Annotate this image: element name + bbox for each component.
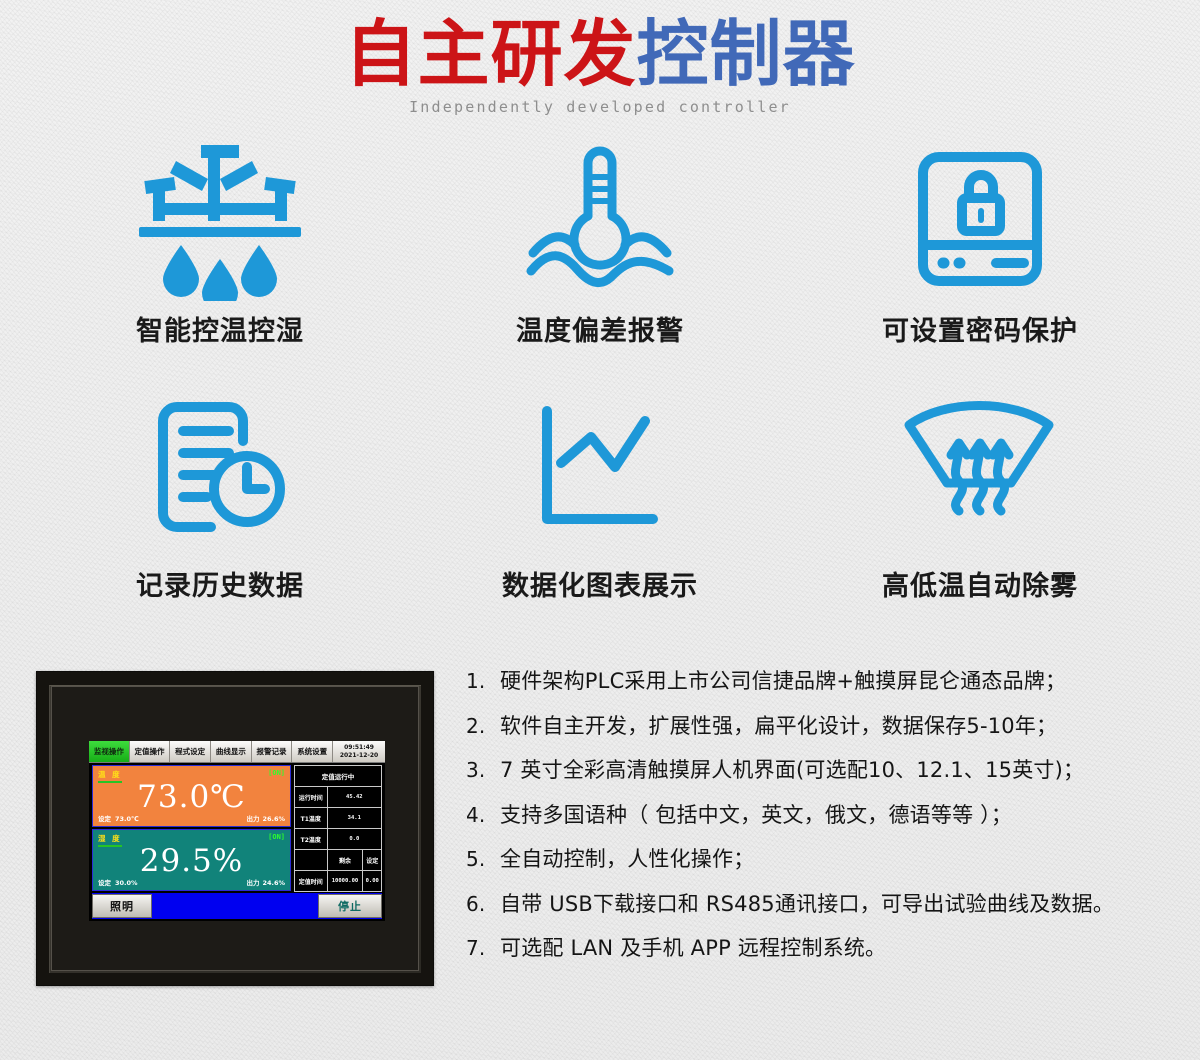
hmi-humidity-setpoint-label: 设定: [98, 879, 111, 887]
hmi-humidity-setpoint: 设定30.0%: [98, 877, 138, 887]
list-item-number: 5.: [466, 846, 500, 872]
hmi-status-col-remaining: 剩余: [327, 850, 363, 871]
hmi-tab-curve[interactable]: 曲线显示: [211, 741, 252, 762]
hmi-humidity-output-label: 出力: [246, 879, 259, 887]
table-row: T2温度 0.0: [295, 829, 382, 850]
hmi-clock-time: 09:51:49: [344, 744, 374, 752]
hmi-humidity-setpoint-value: 30.0%: [115, 879, 138, 887]
title-red-part: 自主研发: [344, 12, 636, 96]
list-item-number: 4.: [466, 802, 500, 828]
list-item-number: 6.: [466, 891, 500, 917]
hmi-temperature-output-label: 出力: [246, 815, 259, 823]
hmi-light-button[interactable]: 照明: [92, 894, 152, 918]
hmi-status-row-label: [295, 850, 328, 871]
list-item: 6. 自带 USB下载接口和 RS485通讯接口，可导出试验曲线及数据。: [466, 891, 1186, 917]
hmi-humidity-panel[interactable]: 湿 度 [ON] 29.5% 设定30.0% 出力24.6%: [92, 829, 291, 891]
list-item: 4. 支持多国语种（ 包括中文，英文，俄文，德语等等 ）；: [466, 802, 1186, 828]
feature-label: 温度偏差报警: [516, 309, 684, 348]
hmi-stop-button[interactable]: 停止: [318, 894, 382, 918]
page-title: 自主研发控制器: [0, 0, 1200, 100]
snowflake-drops-icon: [125, 138, 315, 303]
title-blue-part: 控制器: [637, 12, 856, 96]
hmi-tab-setpoint[interactable]: 定值操作: [130, 741, 171, 762]
list-item-text: 7 英寸全彩高清触摸屏人机界面(可选配10、12.1、15英寸)；: [500, 757, 1186, 783]
hmi-temperature-output: 出力26.6%: [246, 813, 285, 823]
list-item-number: 2.: [466, 713, 500, 739]
list-item-text: 支持多国语种（ 包括中文，英文，俄文，德语等等 ）；: [500, 802, 1186, 828]
hmi-screen: 监视操作 定值操作 程式设定 曲线显示 报警记录 系统设置 09:51:49 2…: [89, 741, 385, 921]
screen-lock-icon: [885, 138, 1075, 303]
feature-item-auto-defrost: 高低温自动除雾: [790, 380, 1170, 630]
feature-item-temp-humidity-control: 智能控温控湿: [30, 130, 410, 380]
feature-label: 高低温自动除雾: [882, 564, 1078, 603]
hmi-status-col-set: 设定: [363, 850, 382, 871]
list-item-text: 硬件架构PLC采用上市公司信捷品牌+触摸屏昆仑通态品牌；: [500, 668, 1186, 694]
page-header: 自主研发控制器 Independently developed controll…: [0, 0, 1200, 128]
hmi-footer-bar: 照明 停止: [92, 893, 382, 919]
hmi-tab-bar: 监视操作 定值操作 程式设定 曲线显示 报警记录 系统设置 09:51:49 2…: [89, 741, 385, 763]
defrost-icon: [885, 388, 1075, 558]
list-item-number: 1.: [466, 668, 500, 694]
hmi-temperature-setpoint: 设定73.0℃: [98, 813, 139, 823]
thermometer-waves-icon: [505, 138, 695, 303]
hmi-humidity-value: 29.5%: [93, 844, 290, 878]
page-subtitle: Independently developed controller: [0, 98, 1200, 116]
feature-item-history-records: 记录历史数据: [30, 380, 410, 630]
hmi-status-row-label: 定值时间: [295, 871, 328, 892]
list-item-number: 3.: [466, 757, 500, 783]
specification-list: 1. 硬件架构PLC采用上市公司信捷品牌+触摸屏昆仑通态品牌； 2. 软件自主开…: [466, 668, 1186, 980]
table-row: 剩余 设定: [295, 850, 382, 871]
table-row: 运行时间 45.42: [295, 787, 382, 808]
hmi-temperature-panel[interactable]: 温 度 [ON] 73.0℃ 设定73.0℃ 出力26.6%: [92, 765, 291, 827]
hmi-status-row-label: T2温度: [295, 829, 328, 850]
table-row: T1温度 34.1: [295, 808, 382, 829]
hmi-clock: 09:51:49 2021-12-20: [333, 741, 385, 762]
feature-label: 可设置密码保护: [882, 309, 1078, 348]
list-item-text: 可选配 LAN 及手机 APP 远程控制系统。: [500, 935, 1186, 961]
hmi-status-row-label: 运行时间: [295, 787, 328, 808]
hmi-status-row-label: T1温度: [295, 808, 328, 829]
hmi-tab-alarm-log[interactable]: 报警记录: [252, 741, 293, 762]
list-item: 1. 硬件架构PLC采用上市公司信捷品牌+触摸屏昆仑通态品牌；: [466, 668, 1186, 694]
hmi-temperature-output-value: 26.6%: [262, 815, 285, 823]
feature-item-chart-display: 数据化图表展示: [410, 380, 790, 630]
list-item: 2. 软件自主开发，扩展性强，扁平化设计，数据保存5-10年；: [466, 713, 1186, 739]
hmi-clock-date: 2021-12-20: [340, 752, 378, 760]
table-row: 定值时间 10000.00 0.00: [295, 871, 382, 892]
hmi-status-row-value: 45.42: [327, 787, 381, 808]
line-chart-icon: [505, 388, 695, 558]
list-item: 3. 7 英寸全彩高清触摸屏人机界面(可选配10、12.1、15英寸)；: [466, 757, 1186, 783]
document-clock-icon: [125, 388, 315, 558]
hmi-tab-system-settings[interactable]: 系统设置: [292, 741, 333, 762]
hmi-status-table: 定值运行中 运行时间 45.42 T1温度 34.1 T2温度 0.0: [294, 765, 382, 892]
feature-label: 智能控温控湿: [136, 309, 304, 348]
hmi-status-title: 定值运行中: [295, 766, 382, 787]
hmi-status-row-value: 0.0: [327, 829, 381, 850]
list-item-text: 自带 USB下载接口和 RS485通讯接口，可导出试验曲线及数据。: [500, 891, 1186, 917]
hmi-temperature-setpoint-label: 设定: [98, 815, 111, 823]
list-item-text: 全自动控制，人性化操作；: [500, 846, 1186, 872]
hmi-temperature-value: 73.0℃: [93, 780, 290, 814]
list-item-number: 7.: [466, 935, 500, 961]
hmi-status-row-value: 34.1: [327, 808, 381, 829]
hmi-tab-monitor[interactable]: 监视操作: [89, 741, 130, 762]
hmi-status-row-value-set: 0.00: [363, 871, 382, 892]
hmi-temperature-setpoint-value: 73.0℃: [115, 815, 139, 823]
hmi-humidity-state-badge: [ON]: [268, 833, 285, 841]
hmi-status-row-value-remaining: 10000.00: [327, 871, 363, 892]
table-row: 定值运行中: [295, 766, 382, 787]
list-item: 7. 可选配 LAN 及手机 APP 远程控制系统。: [466, 935, 1186, 961]
hmi-temperature-state-badge: [ON]: [268, 769, 285, 777]
page-root: 自主研发控制器 Independently developed controll…: [0, 0, 1200, 1060]
feature-item-temp-deviation-alarm: 温度偏差报警: [410, 130, 790, 380]
hmi-humidity-output-value: 24.6%: [262, 879, 285, 887]
hmi-humidity-output: 出力24.6%: [246, 877, 285, 887]
feature-item-password-protection: 可设置密码保护: [790, 130, 1170, 380]
feature-grid: 智能控温控湿 温度偏差报警: [30, 130, 1170, 630]
feature-label: 记录历史数据: [136, 564, 304, 603]
list-item: 5. 全自动控制，人性化操作；: [466, 846, 1186, 872]
list-item-text: 软件自主开发，扩展性强，扁平化设计，数据保存5-10年；: [500, 713, 1186, 739]
controller-device-photo: 监视操作 定值操作 程式设定 曲线显示 报警记录 系统设置 09:51:49 2…: [36, 671, 434, 986]
feature-label: 数据化图表展示: [502, 564, 698, 603]
hmi-tab-program[interactable]: 程式设定: [170, 741, 211, 762]
